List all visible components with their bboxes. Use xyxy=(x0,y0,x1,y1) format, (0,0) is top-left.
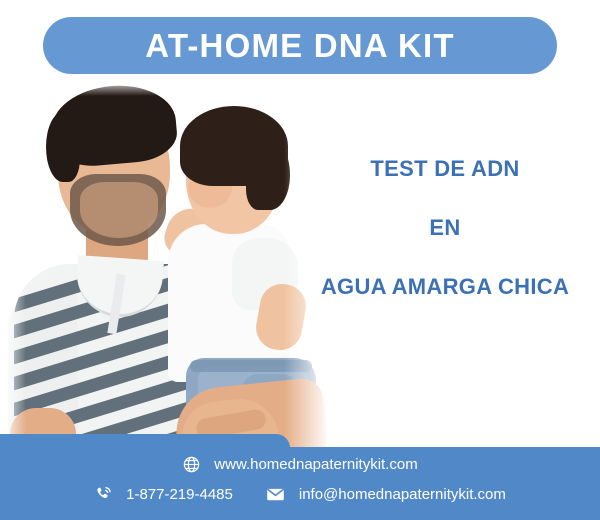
header-banner: AT-HOME DNA KIT xyxy=(43,17,557,74)
dna-kit-promo-card: AT-HOME DNA KIT xyxy=(0,0,600,520)
child-waistband xyxy=(190,360,312,372)
footer-row-contact: 1-877-219-4485 info@homednapaternitykit.… xyxy=(0,484,600,505)
headline-line-1: TEST DE ADN xyxy=(300,158,590,180)
page-title: AT-HOME DNA KIT xyxy=(145,29,454,62)
website-text: www.homednapaternitykit.com xyxy=(214,457,417,472)
globe-icon xyxy=(182,455,201,474)
phone-icon xyxy=(94,485,113,504)
footer-phone[interactable]: 1-877-219-4485 xyxy=(94,485,233,504)
father-hair-side xyxy=(46,112,80,182)
email-text: info@homednapaternitykit.com xyxy=(299,487,506,502)
envelope-icon xyxy=(265,484,286,505)
headline-line-3: AGUA AMARGA CHICA xyxy=(300,276,590,298)
footer-row-website: www.homednapaternitykit.com xyxy=(0,455,600,474)
phone-text: 1-877-219-4485 xyxy=(126,487,233,502)
headline-line-2: EN xyxy=(300,217,590,239)
headline-block: TEST DE ADN EN AGUA AMARGA CHICA xyxy=(300,158,590,298)
father-jaw xyxy=(80,182,158,238)
footer-website[interactable]: www.homednapaternitykit.com xyxy=(182,455,417,474)
family-photo xyxy=(0,78,330,478)
footer-email[interactable]: info@homednapaternitykit.com xyxy=(265,484,506,505)
